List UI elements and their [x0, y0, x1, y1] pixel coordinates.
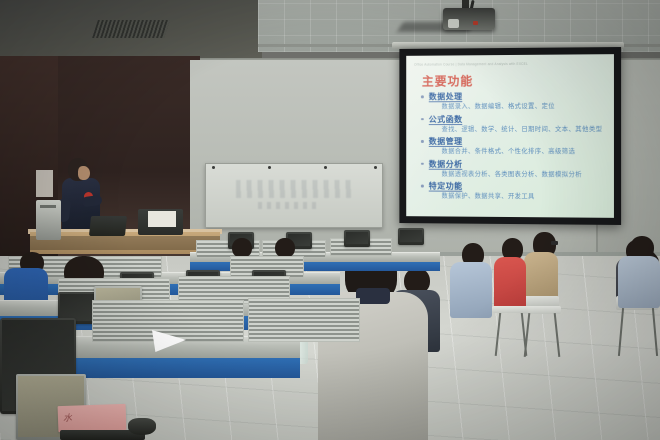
student-head [232, 238, 252, 258]
monitor-screen [400, 230, 422, 242]
classroom-scene: Office Automation Course | Data Manageme… [0, 0, 660, 440]
monitor-screen [346, 232, 368, 244]
slide-group-4-heading: 数据分析 [420, 158, 608, 170]
whiteboard-clip [324, 166, 327, 169]
pink-label-text: 水 [63, 411, 72, 424]
desk-divider [248, 298, 360, 342]
projector-lens [448, 19, 459, 28]
student-torso [450, 262, 492, 318]
desk-blue-panel [190, 262, 440, 271]
slide-group-5: 特定功能 数据保护、数据共享、开发工具 [420, 181, 608, 203]
slide-group-2: 公式函数 查找、逻辑、数学、统计、日期时间、文本、其他类型 [420, 113, 608, 134]
slide-group-2-heading: 公式函数 [420, 113, 608, 124]
whiteboard-clip [374, 166, 377, 169]
ceiling-projector [443, 8, 495, 30]
podium-laptop [89, 216, 127, 236]
student-torso [618, 256, 660, 308]
monitor [398, 228, 424, 245]
whiteboard-erased-marks [258, 202, 316, 209]
slide-group-1-detail: 数据录入、数据编辑、格式设置、定位 [420, 102, 608, 113]
slide-group-1: 数据处理 数据录入、数据编辑、格式设置、定位 [420, 91, 608, 113]
whiteboard-clip [212, 166, 215, 169]
slide-group-5-heading: 特定功能 [420, 181, 608, 193]
wall-paper-sign [36, 170, 53, 197]
slide-bullet-list: 数据处理 数据录入、数据编辑、格式设置、定位 公式函数 查找、逻辑、数学、统计、… [420, 91, 608, 205]
slide-group-4-detail: 数据透视表分析、各类图表分析、数据模拟分析 [420, 169, 608, 180]
slide-header-line: Office Automation Course | Data Manageme… [414, 60, 606, 68]
projector-led [473, 21, 478, 25]
slide-group-5-detail: 数据保护、数据共享、开发工具 [420, 191, 608, 202]
instructor-face [78, 166, 90, 180]
whiteboard-erased-marks [236, 180, 356, 198]
slide-group-4: 数据分析 数据透视表分析、各类图表分析、数据模拟分析 [420, 158, 608, 180]
slide-group-2-detail: 查找、逻辑、数学、统计、日期时间、文本、其他类型 [420, 124, 608, 134]
whiteboard [205, 163, 383, 228]
slide-group-3-heading: 数据管理 [420, 136, 608, 147]
podium-papers [148, 211, 176, 227]
podium-pc-tower [36, 200, 61, 240]
pink-desk-label: 水 [58, 404, 127, 432]
student-torso [494, 257, 526, 311]
whiteboard-clip [268, 166, 271, 169]
projection-screen: Office Automation Course | Data Manageme… [399, 47, 621, 225]
computer-mouse [128, 418, 156, 435]
ceiling-vent-grille [92, 20, 170, 38]
monitor [344, 230, 370, 247]
slide-group-1-heading: 数据处理 [420, 91, 608, 103]
chair-seat [492, 306, 528, 313]
slide-group-3-detail: 数据合并、条件格式、个性化排序、高级筛选 [420, 147, 608, 157]
student-collar [356, 288, 390, 304]
pc-drive-bay [40, 205, 56, 208]
slide-title: 主要功能 [422, 72, 473, 89]
slide-surface: Office Automation Course | Data Manageme… [406, 54, 614, 218]
glasses-icon [551, 241, 558, 245]
slide-group-3: 数据管理 数据合并、条件格式、个性化排序、高级筛选 [420, 136, 608, 157]
student-head [275, 238, 295, 258]
